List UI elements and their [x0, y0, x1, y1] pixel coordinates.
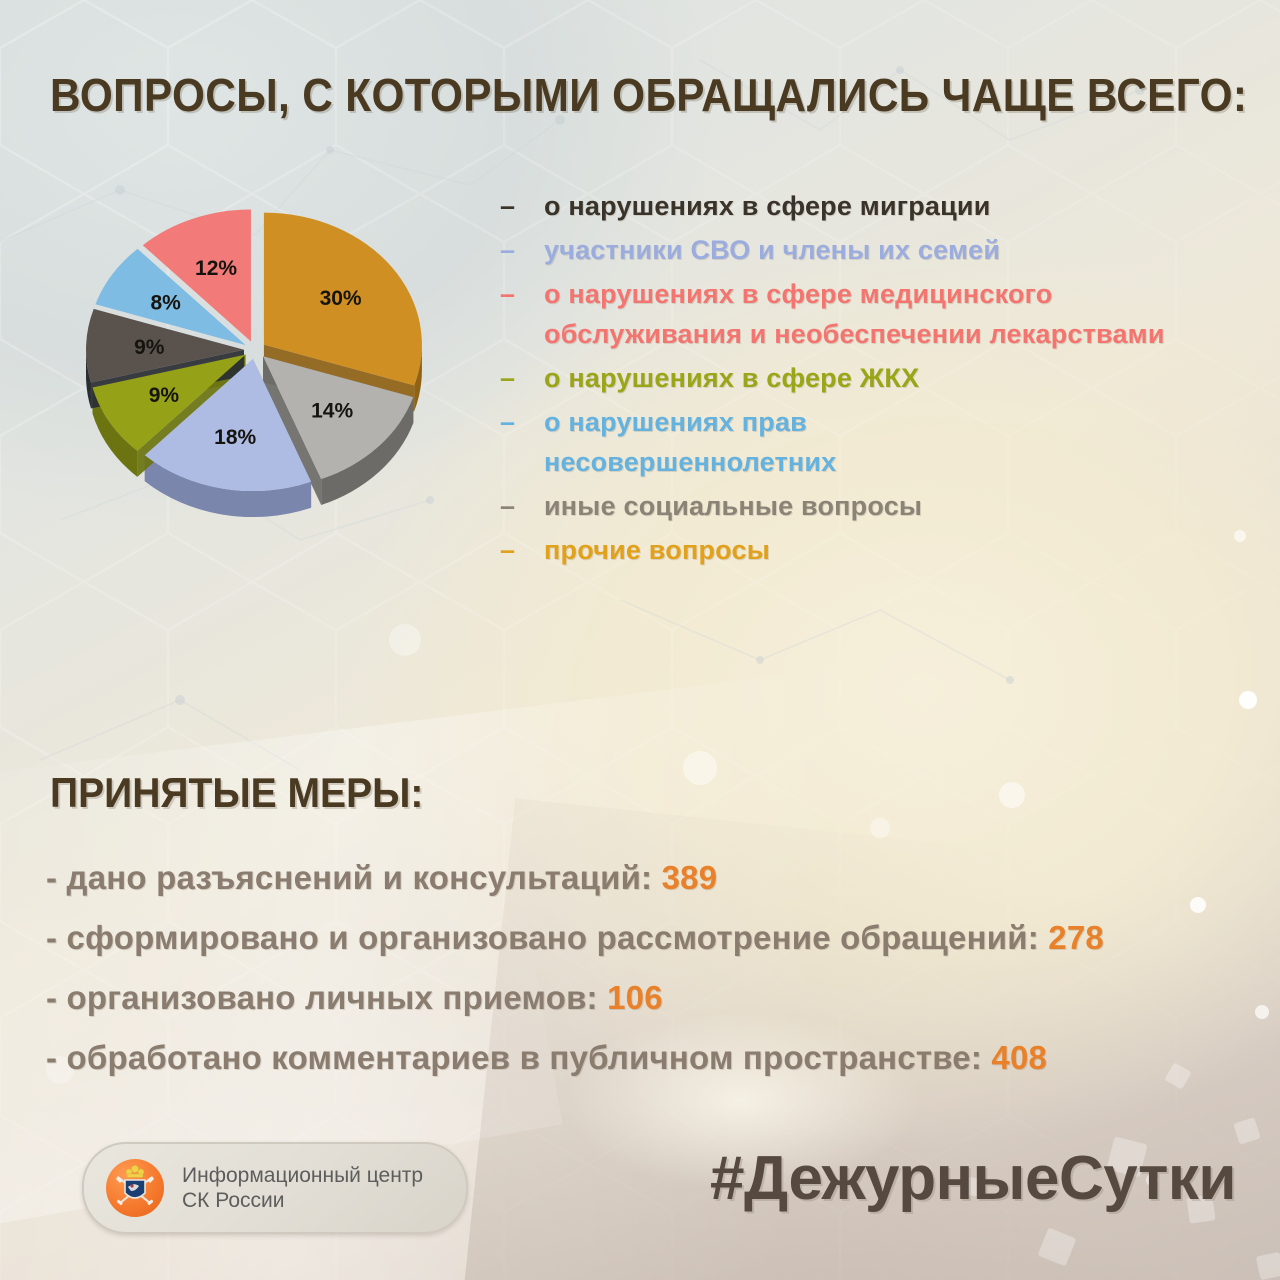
legend-dash: –: [500, 274, 544, 314]
pie-slice-value: 30%: [320, 287, 362, 310]
measure-value: 408: [991, 1039, 1047, 1076]
legend-label: иные социальные вопросы: [544, 486, 922, 526]
legend-label: о нарушениях прав несовершеннолетних: [544, 402, 964, 482]
pie-slice-value: 9%: [149, 384, 180, 407]
legend-label: прочие вопросы: [544, 530, 770, 570]
measure-value: 389: [662, 859, 718, 896]
chart-legend: – о нарушениях в сфере миграции – участн…: [500, 186, 1260, 574]
pie-slice-value: 14%: [311, 400, 353, 423]
hashtag: #ДежурныеСутки: [710, 1148, 1236, 1210]
badge-text: Информационный центр СК России: [182, 1163, 423, 1213]
sk-russia-emblem-icon: [106, 1159, 164, 1217]
legend-label: о нарушениях в сфере ЖКХ: [544, 358, 919, 398]
measure-row: - сформировано и организовано рассмотрен…: [46, 908, 1256, 968]
pie-slice-value: 12%: [195, 257, 237, 280]
badge-line-1: Информационный центр: [182, 1163, 423, 1188]
legend-item-migration[interactable]: – о нарушениях в сфере миграции: [500, 186, 1260, 226]
legend-dash: –: [500, 530, 544, 570]
legend-item-medical[interactable]: – о нарушениях в сфере медицинского обсл…: [500, 274, 1260, 354]
legend-dash: –: [500, 230, 544, 270]
legend-dash: –: [500, 358, 544, 398]
legend-label: о нарушениях в сфере медицинского обслуж…: [544, 274, 1234, 354]
measure-value: 106: [607, 979, 663, 1016]
measure-label: - организовано личных приемов:: [46, 979, 598, 1016]
measure-row: - обработано комментариев в публичном пр…: [46, 1028, 1256, 1088]
legend-item-svo[interactable]: – участники СВО и члены их семей: [500, 230, 1260, 270]
measures-title: ПРИНЯТЫЕ МЕРЫ:: [50, 772, 423, 814]
infographic-canvas: ВОПРОСЫ, С КОТОРЫМИ ОБРАЩАЛИСЬ ЧАЩЕ ВСЕГ…: [0, 0, 1280, 1280]
legend-item-minors[interactable]: – о нарушениях прав несовершеннолетних: [500, 402, 1260, 482]
pie-slice-value: 8%: [150, 292, 181, 315]
legend-item-other-social[interactable]: – иные социальные вопросы: [500, 486, 1260, 526]
measure-row: - организовано личных приемов: 106: [46, 968, 1256, 1028]
legend-label: участники СВО и члены их семей: [544, 230, 1000, 270]
pie-chart: 30%14%18%9%9%8%12%: [42, 188, 492, 548]
legend-dash: –: [500, 186, 544, 226]
legend-dash: –: [500, 486, 544, 526]
measure-label: - сформировано и организовано рассмотрен…: [46, 919, 1039, 956]
page-title: ВОПРОСЫ, С КОТОРЫМИ ОБРАЩАЛИСЬ ЧАЩЕ ВСЕГ…: [50, 72, 1247, 118]
legend-item-zhkh[interactable]: – о нарушениях в сфере ЖКХ: [500, 358, 1260, 398]
measure-value: 278: [1048, 919, 1104, 956]
measure-label: - дано разъяснений и консультаций:: [46, 859, 652, 896]
measure-label: - обработано комментариев в публичном пр…: [46, 1039, 982, 1076]
pie-slice-value: 9%: [134, 336, 165, 359]
legend-label: о нарушениях в сфере миграции: [544, 186, 991, 226]
organization-badge[interactable]: Информационный центр СК России: [82, 1142, 468, 1234]
legend-dash: –: [500, 402, 544, 442]
pie-slice-value: 18%: [214, 426, 256, 449]
measures-list: - дано разъяснений и консультаций: 389 -…: [46, 848, 1256, 1088]
badge-line-2: СК России: [182, 1188, 423, 1213]
legend-item-misc[interactable]: – прочие вопросы: [500, 530, 1260, 570]
measure-row: - дано разъяснений и консультаций: 389: [46, 848, 1256, 908]
